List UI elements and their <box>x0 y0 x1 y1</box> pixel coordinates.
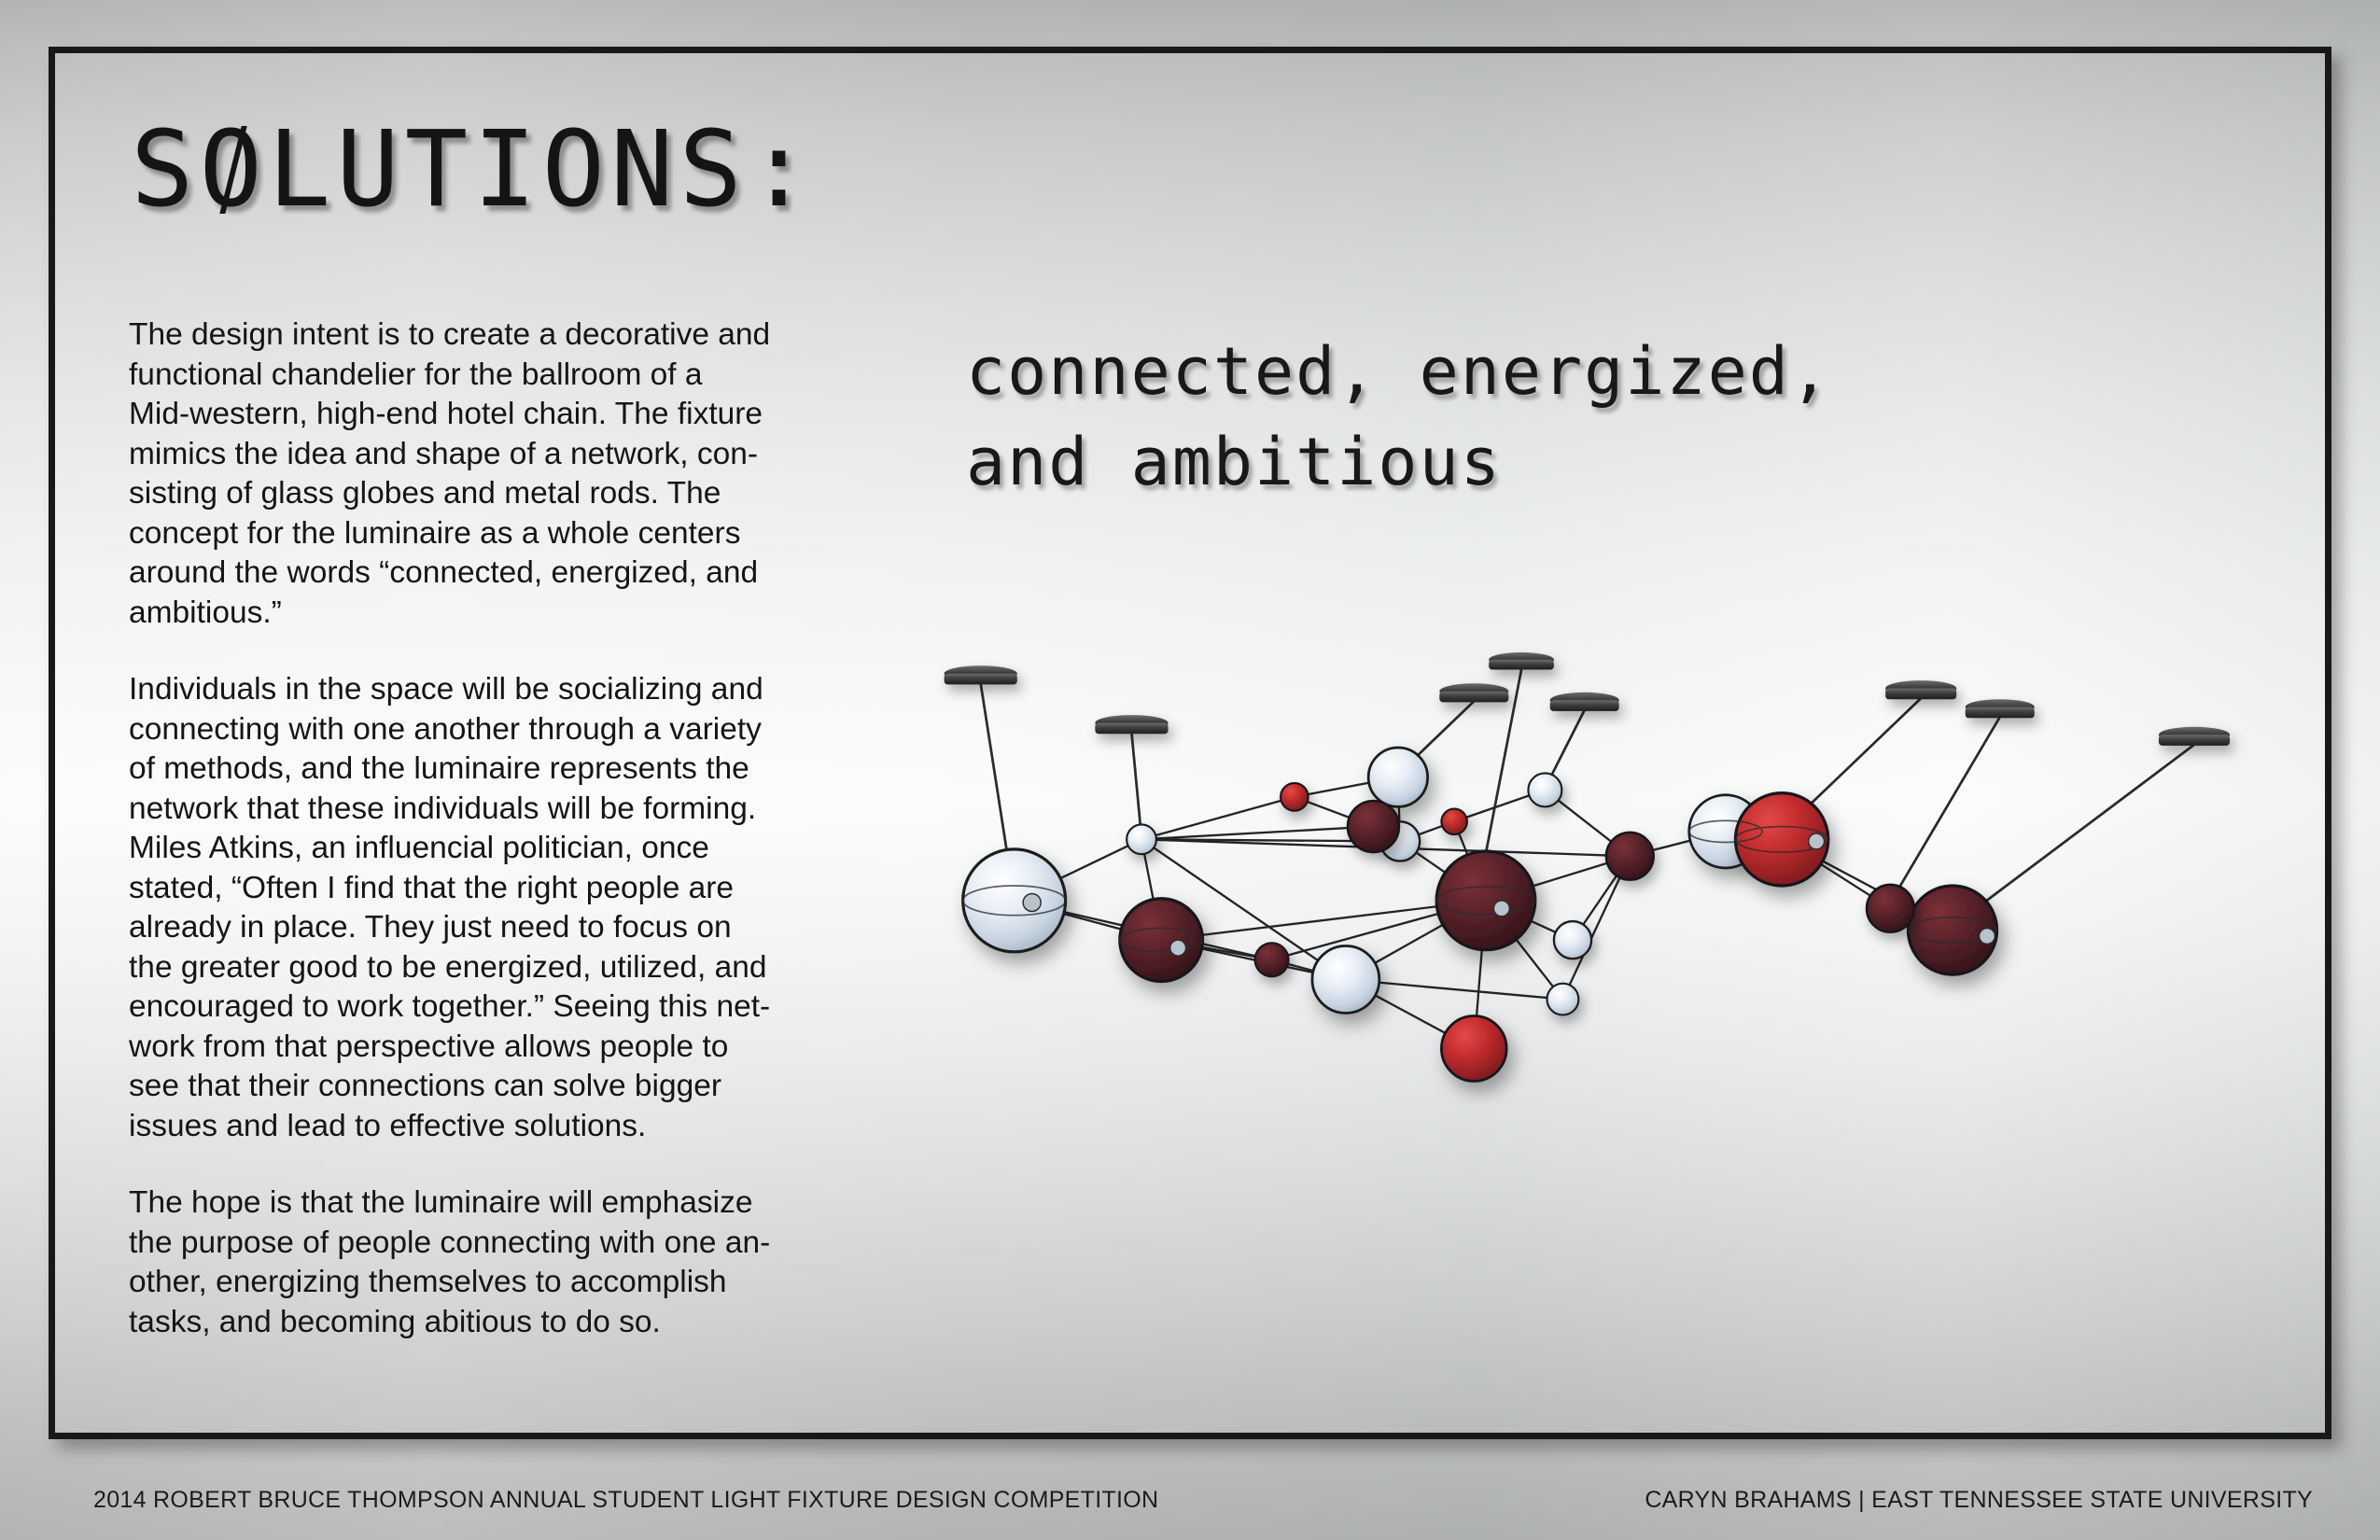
footer-author: CARYN BRAHAMS | EAST TENNESSEE STATE UNI… <box>1645 1487 2313 1514</box>
tagline: connected, energized, and ambitious <box>966 327 1831 507</box>
paragraph-network-concept: Individuals in the space will be sociali… <box>129 670 875 1146</box>
glass-globes <box>963 748 1997 1081</box>
ceiling-canopies <box>945 652 2230 746</box>
paragraph-design-intent: The design intent is to create a decorat… <box>129 315 875 633</box>
tagline-line-1: connected, energized, <box>966 333 1831 410</box>
footer-competition: 2014 ROBERT BRUCE THOMPSON ANNUAL STUDEN… <box>93 1487 1158 1514</box>
paragraph-hope: The hope is that the luminaire will emph… <box>129 1183 875 1342</box>
title-slashed-o: O <box>199 118 267 222</box>
page-title: SOLUTIONS: <box>131 118 816 222</box>
chandelier-illustration <box>840 644 2305 1335</box>
tagline-line-2: and ambitious <box>966 424 1502 500</box>
body-copy: The design intent is to create a decorat… <box>129 315 875 1379</box>
